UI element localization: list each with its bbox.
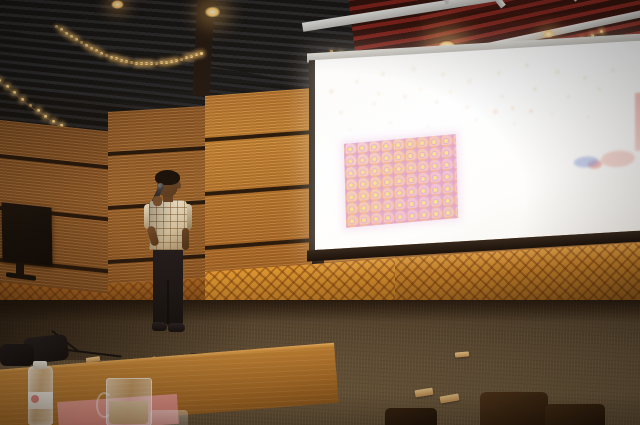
presenter-hand-left <box>153 196 162 206</box>
boy-presenter <box>140 172 196 364</box>
screen-bokeh-dot <box>551 112 554 115</box>
water-bottle[interactable] <box>28 366 53 425</box>
screen-bokeh-dot <box>513 122 516 125</box>
screen-bokeh-dot <box>427 125 430 128</box>
screen-bokeh-dot <box>529 109 533 113</box>
screen-bokeh-dot <box>525 63 529 67</box>
screen-bokeh-dot <box>611 68 615 72</box>
screen-bokeh-dot <box>533 87 537 91</box>
screen-bokeh-dot <box>419 88 422 91</box>
slide-right-edge-graphic <box>635 92 640 151</box>
screen-bokeh-dot <box>475 118 478 121</box>
screen-bokeh-dot <box>587 116 590 119</box>
screen-bokeh-dot <box>435 101 438 104</box>
bottle-cap[interactable] <box>33 361 47 369</box>
wall-mounted-display[interactable] <box>1 202 52 265</box>
chair-back <box>385 408 437 425</box>
presenter-ear <box>177 182 181 189</box>
screen-bokeh-dot <box>441 72 445 76</box>
screen-bokeh-dot <box>411 66 416 71</box>
presenter-shoe-right <box>168 323 185 332</box>
ceiling-spotlight-right-icon <box>543 30 554 38</box>
presenter-shoe-left <box>152 322 167 331</box>
screen-bokeh-dot <box>465 105 469 109</box>
ceiling-spotlight-left-icon <box>204 6 221 18</box>
screen-bokeh-dot <box>497 71 501 75</box>
photograph-scene <box>0 0 640 425</box>
screen-bokeh-dot <box>355 79 359 83</box>
ceiling-spotlight-far-left-icon <box>111 0 124 9</box>
screen-bokeh-dot <box>511 106 515 110</box>
screen-bokeh-dot <box>501 95 504 98</box>
bottle-label-mark <box>31 395 39 403</box>
screen-bokeh-dot <box>339 110 343 114</box>
chair-back <box>480 392 548 425</box>
chair-back <box>545 404 605 425</box>
equipment-bag-second <box>0 344 34 366</box>
screen-bokeh-dot <box>467 79 472 84</box>
projection-screen-surface <box>315 41 640 250</box>
screen-bokeh-dot <box>583 76 587 80</box>
projection-screen-assembly <box>315 40 640 265</box>
screen-bokeh-dot <box>493 109 498 114</box>
slide-batik-pattern-image <box>344 134 458 228</box>
presenter-forearm-right <box>182 228 189 250</box>
microphone-head-icon <box>157 183 164 190</box>
string-light-bulb <box>200 52 203 55</box>
screen-bokeh-dot <box>349 128 352 131</box>
drinking-glass[interactable] <box>106 378 152 425</box>
string-light-bulb <box>600 30 603 33</box>
second-cup[interactable] <box>150 410 188 425</box>
screen-bokeh-dot <box>567 95 570 98</box>
screen-bokeh-dot <box>381 72 385 76</box>
slide-secondary-graphic <box>573 136 639 182</box>
screen-bokeh-dot <box>329 89 334 94</box>
screen-bokeh-dot <box>403 95 407 99</box>
screen-bokeh-dot <box>449 90 452 93</box>
screen-bokeh-dot <box>377 92 380 95</box>
presenter-trousers <box>153 246 183 324</box>
screen-bokeh-dot <box>555 69 560 74</box>
screen-bokeh-dot <box>389 121 392 124</box>
screen-bokeh-dot <box>597 87 601 91</box>
glass-contents <box>109 401 148 424</box>
screen-bokeh-dot <box>373 102 376 105</box>
